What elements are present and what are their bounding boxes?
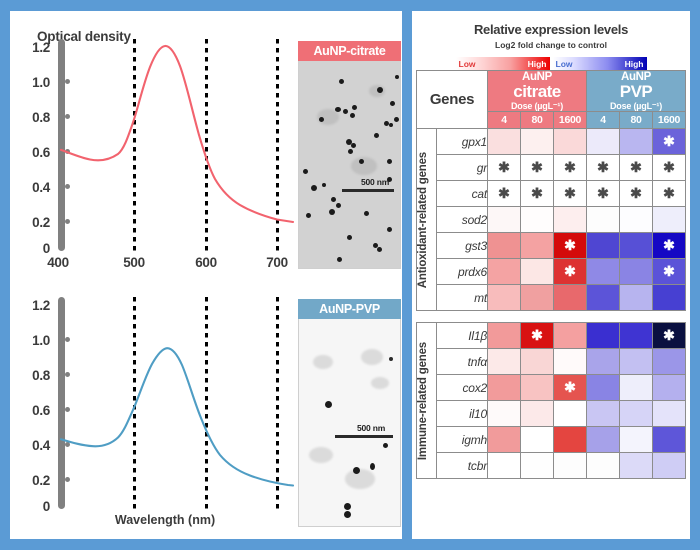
heatmap-cell: [554, 427, 587, 453]
legend-high-label: High: [625, 59, 644, 69]
heatmap-cell: [653, 285, 686, 311]
heatmap-cell: [521, 349, 554, 375]
significance-asterisk: ✱: [663, 237, 675, 253]
gene-name-cell: igmh: [437, 427, 488, 453]
heatmap-cell: [653, 207, 686, 233]
heatmap-cell: [653, 349, 686, 375]
table-header-row: Genes AuNP citrate Dose (µgL⁻¹) AuNP PVP…: [417, 71, 686, 112]
heatmap-cell: [620, 323, 653, 349]
gene-name-cell: tcbr: [437, 453, 488, 479]
heatmap-cell: [554, 207, 587, 233]
heatmap-cell: [554, 401, 587, 427]
heatmap-cell: ✱: [653, 323, 686, 349]
tem-micrograph-pvp: 500 nm: [298, 319, 401, 527]
heatmap-cell: [488, 427, 521, 453]
significance-asterisk: ✱: [630, 185, 642, 201]
heatmap-cell: [488, 233, 521, 259]
table-row: gst3✱✱: [417, 233, 686, 259]
x-tick-label: 500: [111, 255, 157, 270]
dose-header: 1600: [653, 112, 686, 129]
heatmap-cell: [521, 285, 554, 311]
gene-name-cell: gr: [437, 155, 488, 181]
heatmap-cell: [587, 427, 620, 453]
heatmap-cell: [488, 207, 521, 233]
heatmap-cell: ✱: [554, 181, 587, 207]
heatmap-cell: [521, 129, 554, 155]
tem-label-pvp: AuNP-PVP: [298, 299, 401, 319]
dose-header: 4: [587, 112, 620, 129]
heatmap-cell: [620, 375, 653, 401]
heatmap-cell: ✱: [554, 233, 587, 259]
significance-asterisk: ✱: [564, 159, 576, 175]
x-tick-label: 400: [35, 255, 81, 270]
table-row: sod2: [417, 207, 686, 233]
heatmap-cell: [653, 375, 686, 401]
heatmap-cell: [620, 129, 653, 155]
heatmap-cell: ✱: [653, 259, 686, 285]
scale-bar-label: 500 nm: [361, 177, 389, 187]
tem-image-citrate: AuNP-citrate: [298, 41, 401, 269]
heatmap-cell: [521, 427, 554, 453]
heatmap-cell: [620, 207, 653, 233]
table-row: il10: [417, 401, 686, 427]
genes-header: Genes: [417, 71, 488, 129]
gene-name-cell: sod2: [437, 207, 488, 233]
legend-high-label: High: [528, 59, 547, 69]
treatment-name-line2: PVP: [587, 83, 685, 101]
table-row: Antioxidant-related genesgpx1✱: [417, 129, 686, 155]
tem-image-pvp: AuNP-PVP 500 nm: [298, 299, 401, 527]
heatmap-cell: [587, 453, 620, 479]
heatmap-cell: [587, 129, 620, 155]
dose-header: 1600: [554, 112, 587, 129]
table-row: Immune-related genesIl1β✱✱: [417, 323, 686, 349]
heatmap-cell: [521, 233, 554, 259]
heatmap-cell: ✱: [521, 155, 554, 181]
gene-group-label: Immune-related genes: [417, 342, 429, 460]
gene-group-label: Antioxidant-related genes: [417, 152, 429, 288]
gene-group-cell: Immune-related genes: [417, 323, 437, 479]
heatmap-cell: ✱: [488, 181, 521, 207]
heatmap-cell: ✱: [620, 155, 653, 181]
heatmap-cell: [587, 259, 620, 285]
gene-group-cell: Antioxidant-related genes: [417, 129, 437, 311]
gene-name-cell: gst3: [437, 233, 488, 259]
heatmap-cell: [521, 401, 554, 427]
gene-name-cell: prdx6: [437, 259, 488, 285]
scale-bar: [335, 435, 393, 438]
table-row: mt: [417, 285, 686, 311]
gene-name-cell: mt: [437, 285, 488, 311]
heatmap-cell: [587, 233, 620, 259]
heatmap-cell: [587, 349, 620, 375]
significance-asterisk: ✱: [630, 159, 642, 175]
heatmap-cell: [521, 259, 554, 285]
treatment-name-line2: citrate: [488, 83, 586, 101]
table-row: igmh: [417, 427, 686, 453]
heatmap-cell: [620, 427, 653, 453]
significance-asterisk: ✱: [663, 159, 675, 175]
significance-asterisk: ✱: [564, 237, 576, 253]
significance-asterisk: ✱: [564, 263, 576, 279]
heatmap-cell: [488, 375, 521, 401]
heatmap-cell: [620, 233, 653, 259]
heatmap-cell: [653, 427, 686, 453]
heatmap-cell: [488, 453, 521, 479]
heatmap-cell: ✱: [620, 181, 653, 207]
heatmap-cell: ✱: [653, 129, 686, 155]
x-tick-label: 600: [183, 255, 229, 270]
heatmap-cell: [587, 375, 620, 401]
table-row: tcbr: [417, 453, 686, 479]
panel-subtitle: Log2 fold change to control: [412, 40, 690, 50]
significance-asterisk: ✱: [597, 159, 609, 175]
scale-bar-label: 500 nm: [357, 423, 385, 433]
heatmap-cell: [620, 285, 653, 311]
heatmap-cell: ✱: [554, 155, 587, 181]
legend-blue: Low High: [553, 57, 647, 70]
heatmap-table-antioxidant: Genes AuNP citrate Dose (µgL⁻¹) AuNP PVP…: [416, 70, 686, 311]
significance-asterisk: ✱: [531, 327, 543, 343]
significance-asterisk: ✱: [498, 159, 510, 175]
significance-asterisk: ✱: [564, 379, 576, 395]
heatmap-cell: ✱: [521, 181, 554, 207]
significance-asterisk: ✱: [663, 263, 675, 279]
x-axis-title: Wavelength (nm): [40, 513, 290, 527]
gene-name-cell: Il1β: [437, 323, 488, 349]
legend-row: Low High Low High: [412, 57, 690, 70]
heatmap-cell: ✱: [587, 181, 620, 207]
legend-red: Low High: [456, 57, 550, 70]
table-row: tnfα: [417, 349, 686, 375]
tem-label-citrate: AuNP-citrate: [298, 41, 401, 61]
heatmap-cell: ✱: [554, 375, 587, 401]
heatmap-cell: ✱: [554, 259, 587, 285]
gene-name-cell: il10: [437, 401, 488, 427]
heatmap-cell: [554, 285, 587, 311]
heatmap-cell: [554, 129, 587, 155]
heatmap-cell: [620, 349, 653, 375]
significance-asterisk: ✱: [564, 185, 576, 201]
heatmap-cell: [620, 453, 653, 479]
heatmap-panel: Relative expression levels Log2 fold cha…: [412, 11, 690, 539]
heatmap-cell: [488, 285, 521, 311]
heatmap-cell: [521, 453, 554, 479]
heatmap-cell: [587, 323, 620, 349]
heatmap-cell: [620, 259, 653, 285]
heatmap-cell: [488, 259, 521, 285]
heatmap-cell: ✱: [488, 155, 521, 181]
heatmap-cell: [587, 401, 620, 427]
significance-asterisk: ✱: [531, 185, 543, 201]
significance-asterisk: ✱: [597, 185, 609, 201]
heatmap-cell: [488, 323, 521, 349]
heatmap-cell: [587, 207, 620, 233]
dose-header: 80: [620, 112, 653, 129]
gene-name-cell: cat: [437, 181, 488, 207]
dose-header: 4: [488, 112, 521, 129]
dose-unit-label: Dose (µgL⁻¹): [587, 102, 685, 112]
heatmap-table-immune: Immune-related genesIl1β✱✱tnfαcox2✱il10i…: [416, 322, 686, 479]
heatmap-cell: [521, 375, 554, 401]
x-tick-label: 700: [254, 255, 300, 270]
heatmap-cell: [620, 401, 653, 427]
spectra-panel: Optical density 1.2 1.0 0.8 0.6 0.4 0.2 …: [10, 11, 402, 539]
heatmap-cell: [488, 401, 521, 427]
heatmap-cell: [653, 401, 686, 427]
panel-title: Relative expression levels: [412, 22, 690, 37]
significance-asterisk: ✱: [663, 185, 675, 201]
gene-name-cell: tnfα: [437, 349, 488, 375]
table-row: cox2✱: [417, 375, 686, 401]
scale-bar: [342, 189, 394, 192]
legend-low-label: Low: [556, 59, 573, 69]
significance-asterisk: ✱: [531, 159, 543, 175]
treatment-header-pvp: AuNP PVP Dose (µgL⁻¹): [587, 71, 686, 112]
gene-name-cell: cox2: [437, 375, 488, 401]
table-row: prdx6✱✱: [417, 259, 686, 285]
tem-micrograph-citrate: 500 nm: [298, 61, 401, 269]
legend-low-label: Low: [459, 59, 476, 69]
treatment-header-citrate: AuNP citrate Dose (µgL⁻¹): [488, 71, 587, 112]
heatmap-cell: [554, 323, 587, 349]
significance-asterisk: ✱: [663, 133, 675, 149]
heatmap-cell: [488, 129, 521, 155]
heatmap-cell: [521, 207, 554, 233]
heatmap-cell: ✱: [653, 233, 686, 259]
heatmap-cell: ✱: [653, 155, 686, 181]
significance-asterisk: ✱: [498, 185, 510, 201]
heatmap-cell: ✱: [653, 181, 686, 207]
heatmap-cell: [587, 285, 620, 311]
table-row: cat✱✱✱✱✱✱: [417, 181, 686, 207]
heatmap-cell: [554, 349, 587, 375]
heatmap-cell: [488, 349, 521, 375]
heatmap-cell: [554, 453, 587, 479]
heatmap-cell: ✱: [587, 155, 620, 181]
significance-asterisk: ✱: [663, 327, 675, 343]
dose-header: 80: [521, 112, 554, 129]
dose-unit-label: Dose (µgL⁻¹): [488, 102, 586, 112]
table-row: gr✱✱✱✱✱✱: [417, 155, 686, 181]
heatmap-cell: [653, 453, 686, 479]
heatmap-cell: ✱: [521, 323, 554, 349]
gene-name-cell: gpx1: [437, 129, 488, 155]
